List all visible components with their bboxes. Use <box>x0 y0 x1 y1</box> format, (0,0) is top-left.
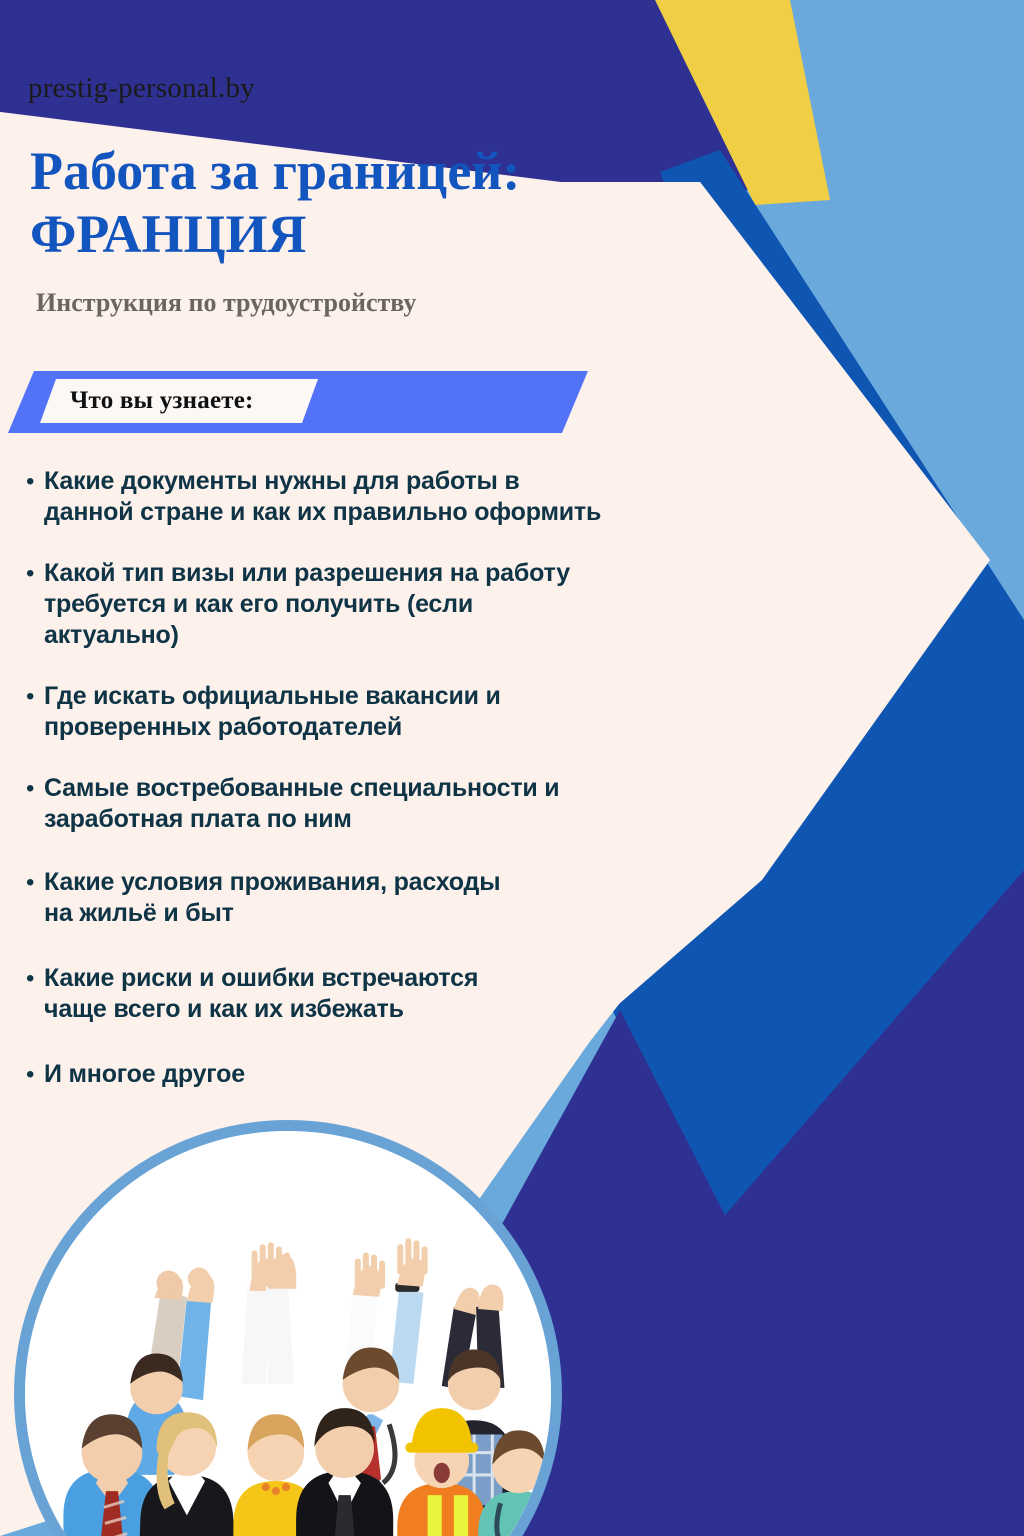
site-url: prestig-personal.by <box>28 72 255 105</box>
list-item-text: Какие риски и ошибки встречаются чаще вс… <box>44 963 478 1025</box>
list-item-text: Какие документы нужны для работы в данно… <box>44 466 601 528</box>
team-photo-illustration <box>25 1131 551 1536</box>
banner-label: Что вы узнаете: <box>70 387 254 415</box>
what-you-learn-banner: Что вы узнаете: <box>8 371 588 433</box>
list-item: • Самые востребованные специальности и з… <box>26 773 706 835</box>
title-line-1: Работа за границей: <box>30 141 520 201</box>
page-subtitle: Инструкция по трудоустройству <box>36 288 416 318</box>
bullet-dot-icon: • <box>26 964 44 994</box>
list-item: • Какие риски и ошибки встречаются чаще … <box>26 963 706 1025</box>
team-photo-circle <box>14 1120 562 1536</box>
bullet-dot-icon: • <box>26 868 44 898</box>
list-item-text: Где искать официальные вакансии и провер… <box>44 681 501 743</box>
benefits-list: • Какие документы нужны для работы в дан… <box>26 466 706 1090</box>
list-item-text: Какие условия проживания, расходы на жил… <box>44 867 500 929</box>
bullet-dot-icon: • <box>26 682 44 712</box>
title-line-2: ФРАНЦИЯ <box>30 203 690 266</box>
list-item-text: И многое другое <box>44 1059 245 1090</box>
list-item: • Где искать официальные вакансии и пров… <box>26 681 706 743</box>
bullet-dot-icon: • <box>26 559 44 589</box>
bullet-dot-icon: • <box>26 467 44 497</box>
list-item-text: Какой тип визы или разрешения на работу … <box>44 558 570 651</box>
bullet-dot-icon: • <box>26 774 44 804</box>
poster-canvas: prestig-personal.by Работа за границей: … <box>0 0 1024 1536</box>
list-item-text: Самые востребованные специальности и зар… <box>44 773 559 835</box>
page-title: Работа за границей: ФРАНЦИЯ <box>30 140 690 265</box>
bullet-dot-icon: • <box>26 1060 44 1090</box>
list-item: • Какой тип визы или разрешения на работ… <box>26 558 706 651</box>
list-item: • Какие условия проживания, расходы на ж… <box>26 867 706 929</box>
list-item: • И многое другое <box>26 1059 706 1090</box>
list-item: • Какие документы нужны для работы в дан… <box>26 466 706 528</box>
